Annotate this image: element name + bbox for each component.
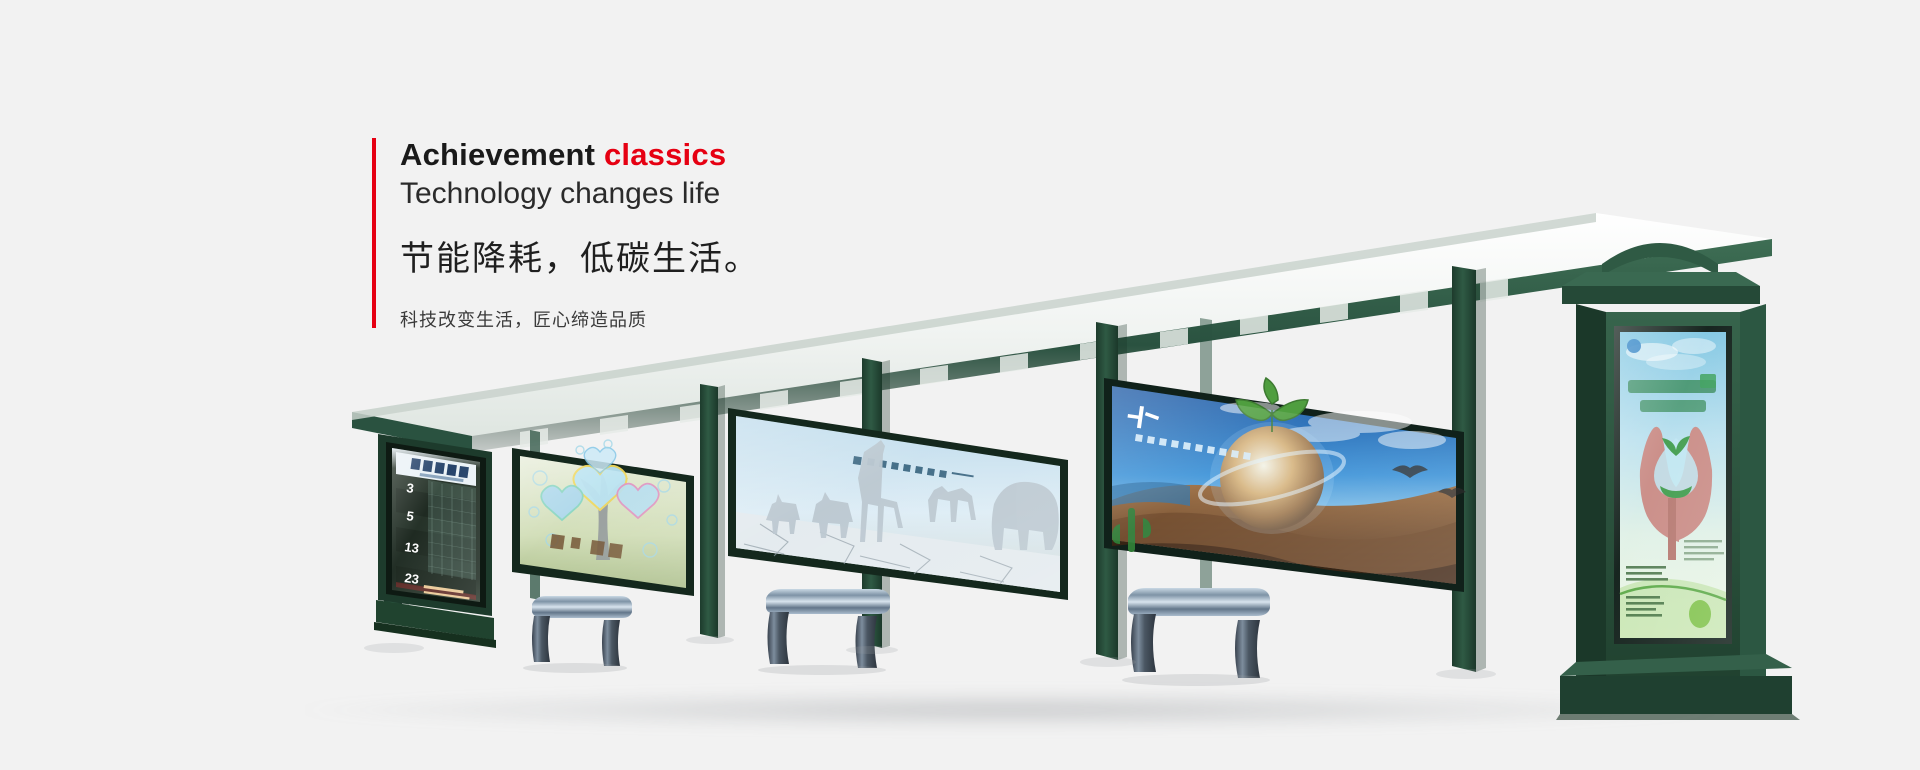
tower-cap-slab-top (1562, 272, 1760, 286)
schedule-cabinet[interactable]: 3 5 13 23 (374, 434, 496, 648)
tower-base-front (1560, 676, 1792, 714)
bench-3 (1122, 588, 1270, 686)
tower-base-shadow (1556, 714, 1800, 720)
light-box-1[interactable] (512, 440, 694, 596)
column-2 (700, 384, 718, 638)
tower-body-side (1576, 304, 1606, 690)
light-box-2[interactable] (728, 408, 1068, 600)
shelter-roof-top (352, 213, 1772, 436)
light-box-4[interactable] (1614, 326, 1732, 644)
bus-shelter-render: 3 5 13 23 (0, 0, 1920, 770)
shelter-roof-rear-edge (352, 213, 1596, 420)
bench-1 (523, 596, 632, 673)
light-box-3[interactable] (1104, 378, 1466, 592)
tower-body-right (1740, 304, 1766, 686)
tower-cap-slab-front (1562, 286, 1760, 304)
bench-2 (758, 589, 890, 675)
banner-canvas: Achievement classics Technology changes … (0, 0, 1920, 770)
